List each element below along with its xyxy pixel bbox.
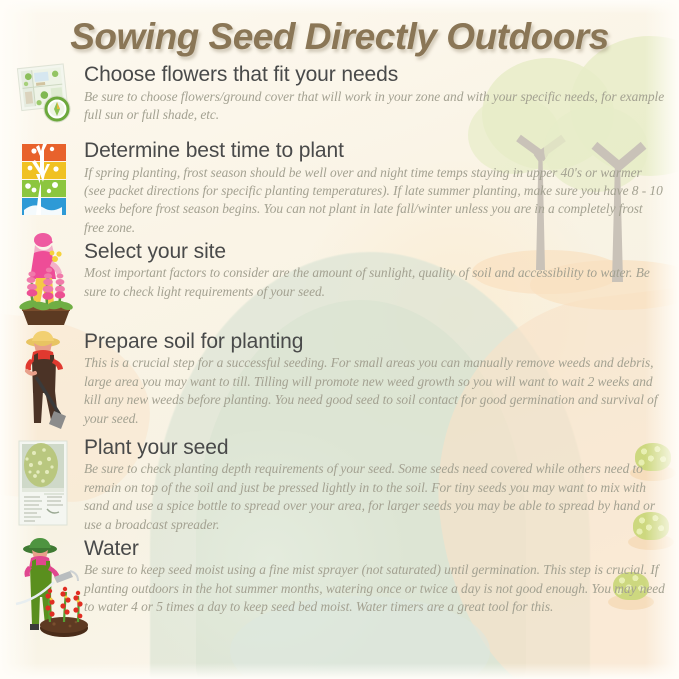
infographic-poster: Sowing Seed Directly Outdoors [0,0,679,679]
step-body: Prepare soil for planting This is a cruc… [84,329,665,428]
compass-rose [44,96,70,122]
step-heading: Select your site [84,240,665,264]
step-heading: Choose flowers that fit your needs [84,63,665,87]
step-description: This is a crucial step for a successful … [84,354,665,427]
four-seasons-tree-icon [14,138,74,222]
step-heading: Determine best time to plant [84,139,665,163]
straw-hat [26,331,60,347]
garden-plan-map-compass-icon [14,62,76,128]
step-item-determine-time: Determine best time to plant If spring p… [0,138,679,237]
step-item-water: Water Be sure to keep seed moist using a… [0,536,679,636]
gardener-with-shovel-icon [14,329,76,433]
step-icon-container [10,435,82,531]
step-heading: Prepare soil for planting [84,330,665,354]
step-icon-container [10,138,82,234]
step-body: Determine best time to plant If spring p… [84,138,665,237]
step-body: Plant your seed Be sure to check plantin… [84,435,665,534]
gardener-with-flower-planter-icon [14,231,80,329]
step-description: If spring planting, frost season should … [84,164,665,237]
step-description: Be sure to choose flowers/ground cover t… [84,88,665,125]
step-icon-container [10,239,82,323]
step-icon-container [10,62,82,132]
foxglove-flowers [18,268,74,312]
step-description: Be sure to keep seed moist using a fine … [84,561,665,616]
page-title: Sowing Seed Directly Outdoors [0,16,679,58]
step-description: Be sure to check planting depth requirem… [84,460,665,533]
seed-packet-icon [14,439,72,531]
green-hat [23,538,57,554]
gardener-watering-flowers-icon [14,536,90,640]
steps-list: Choose flowers that fit your needs Be su… [0,62,679,636]
step-body: Select your site Most important factors … [84,239,665,301]
step-body: Choose flowers that fit your needs Be su… [84,62,665,124]
step-item-select-site: Select your site Most important factors … [0,239,679,323]
step-description: Most important factors to consider are t… [84,264,665,301]
step-item-prepare-soil: Prepare soil for planting This is a cruc… [0,329,679,433]
step-body: Water Be sure to keep seed moist using a… [84,536,665,617]
step-heading: Plant your seed [84,436,665,460]
step-heading: Water [84,537,665,561]
step-icon-container [10,329,82,433]
step-item-plant-seed: Plant your seed Be sure to check plantin… [0,435,679,534]
overalls-leg-left [33,391,43,423]
step-icon-container [10,536,82,636]
step-item-choose-flowers: Choose flowers that fit your needs Be su… [0,62,679,132]
